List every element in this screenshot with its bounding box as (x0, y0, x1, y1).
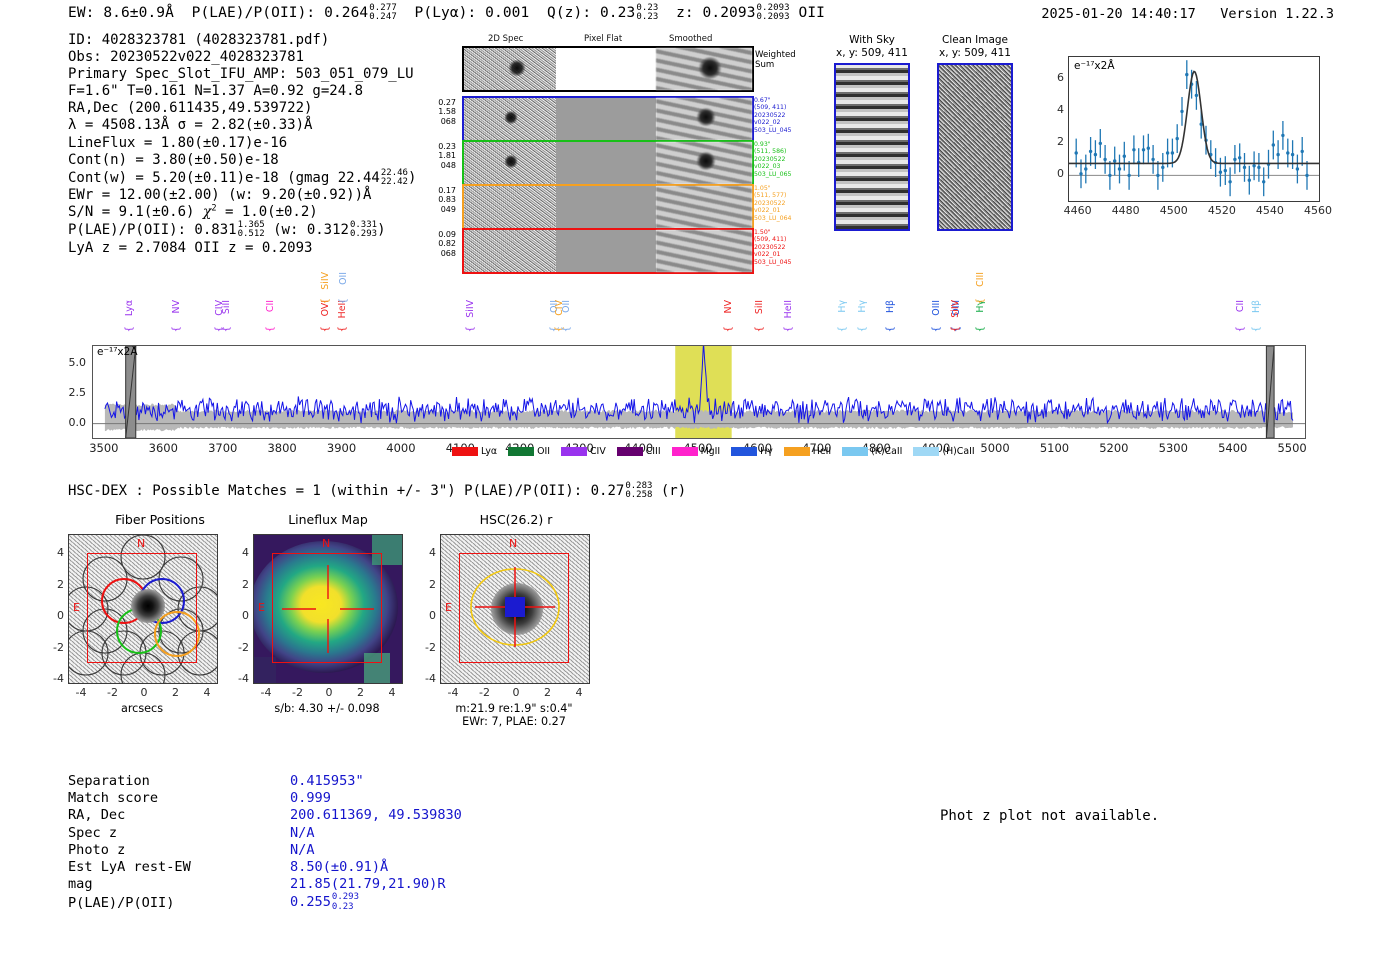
spectrum-line-label: SiIV (950, 300, 961, 318)
param-cont-n: Cont(n) = 3.80(±0.50)e-18 (68, 152, 416, 169)
weighted-sum-smoothed (656, 48, 752, 90)
line-plot-xtick: 4560 (1302, 204, 1334, 217)
panel-xtick: 2 (164, 686, 188, 699)
table-value: 0.999 (290, 790, 331, 806)
panel-ytick: 0 (418, 609, 436, 622)
table-row: Spec zN/A (68, 825, 462, 842)
dex-lo: 0.258 (625, 491, 652, 500)
spectrum-line-label: OII (561, 300, 572, 313)
fiber-positions-title: Fiber Positions (60, 512, 260, 527)
panel-xtick: 2 (349, 686, 373, 699)
legend-swatch (672, 447, 698, 456)
fiber-smoothed (656, 186, 752, 228)
line-plot-xtick: 4500 (1158, 204, 1190, 217)
legend-label: CIV (590, 446, 606, 457)
param-cont-w: Cont(w) = 5.20(±0.11)e-18 (gmag 22.4422.… (68, 169, 416, 187)
panel-ytick: 0 (46, 609, 64, 622)
hsc-r-image[interactable]: N E (440, 534, 590, 684)
fiber-right-label: 1.50"(509, 411)20230522v022_01503_LU_045 (754, 229, 791, 266)
spectrum-xtick: 5500 (1270, 441, 1314, 455)
spectrum-line-label: OII (338, 272, 349, 285)
fiber-left-label: 0.231.81048 (422, 142, 456, 170)
panel-ytick: -4 (418, 672, 436, 685)
spectrum-line-brace: { (754, 326, 765, 332)
dex-suffix: (r) (661, 483, 686, 499)
table-key: Photo z (68, 842, 290, 859)
panel-ytick: 2 (418, 578, 436, 591)
panel-ytick: 4 (231, 546, 249, 559)
weighted-sum-2dspec (464, 48, 556, 90)
fiber-left-label: 0.090.82068 (422, 230, 456, 258)
spectrum-line-brace: { (723, 326, 734, 332)
fiber-smoothed (656, 142, 752, 184)
spectrum-xtick: 3500 (82, 441, 126, 455)
fiber-left-label: 0.271.58068 (422, 98, 456, 126)
legend-item: (H)CaII (913, 446, 974, 457)
param-radec: RA,Dec (200.611435,49.539722) (68, 100, 416, 117)
fiber-2dspec (464, 98, 556, 140)
header-z: z: 0.2093 (676, 5, 755, 21)
table-value: 0.255 (290, 895, 331, 911)
weighted-sum-label: Weighted Sum (755, 50, 796, 70)
timestamp: 2025-01-20 14:40:17 (1041, 6, 1195, 22)
param-id: ID: 4028323781 (4028323781.pdf) (68, 32, 416, 49)
legend-swatch (913, 447, 939, 456)
fiber-red-box (87, 553, 197, 663)
header-summary-line: EW: 8.6±0.9Å P(LAE)/P(OII): 0.2640.2770.… (68, 4, 825, 22)
param-lineflux: LineFlux = 1.80(±0.17)e-16 (68, 135, 416, 152)
spectrum-line-label: SiIV (465, 300, 476, 318)
legend-label: MgII (701, 446, 721, 457)
panel-ytick: -4 (46, 672, 64, 685)
spectrum-line-brace: { (337, 326, 348, 332)
panel-xtick: -2 (101, 686, 125, 699)
spectrum-line-brace: { (837, 326, 848, 332)
spectrum-line-label: SiII (754, 300, 765, 314)
legend-item: Hγ (731, 446, 773, 457)
legend-item: MgII (672, 446, 721, 457)
header-ew: EW: 8.6±0.9Å (68, 5, 174, 21)
param-primary-slot: Primary Spec_Slot_IFU_AMP: 503_051_079_L… (68, 66, 416, 83)
hsc-r-title: HSC(26.2) r (426, 512, 606, 527)
line-plot-xtick: 4520 (1206, 204, 1238, 217)
fiber-2dspec (464, 230, 556, 272)
parameter-block: ID: 4028323781 (4028323781.pdf) Obs: 202… (68, 32, 416, 257)
legend-label: (H)CaII (942, 446, 974, 457)
param-snr-post: = 1.0(±0.2) (217, 204, 318, 220)
line-plot-ytick: 2 (1050, 135, 1064, 148)
param-snr-pre: S/N = 9.1(±0.6) (68, 204, 203, 220)
legend-swatch (561, 447, 587, 456)
col-title-smoothed: Smoothed (669, 34, 712, 44)
compass-east: E (445, 601, 452, 614)
spectrum-line-label: Hγ (857, 300, 868, 313)
param-seeing: F=1.6" T=0.161 N=1.37 A=0.92 g=24.8 (68, 83, 416, 100)
param-cont-w-post: ) (408, 170, 416, 186)
spectrum-xtick: 3600 (141, 441, 185, 455)
table-key: Est LyA rest-EW (68, 859, 290, 876)
header-z-type: OII (799, 5, 826, 21)
panel-xtick: -4 (69, 686, 93, 699)
fiber-pixelflat (556, 230, 656, 272)
param-obs: Obs: 20230522v022_4028323781 (68, 49, 416, 66)
fiber-pixelflat (556, 186, 656, 228)
spectrum-line-label: Hγ (837, 300, 848, 313)
with-sky-image (834, 63, 910, 231)
spectrum-ytick: 0.0 (56, 416, 86, 429)
compass-east: E (258, 601, 265, 614)
spectrum-xtick: 5400 (1211, 441, 1255, 455)
spectrum-xtick: 3700 (201, 441, 245, 455)
table-row: Photo zN/A (68, 842, 462, 859)
spectrum-line-brace: { (931, 326, 942, 332)
spectrum-xtick: 3900 (320, 441, 364, 455)
weighted-sum-row (462, 46, 754, 92)
emission-line-plot: e⁻¹⁷x2Å 446044804500452045404560 0246 (1040, 52, 1326, 222)
header-plae-lo: 0.247 (369, 13, 397, 22)
legend-swatch (842, 447, 868, 456)
fiber-positions-xlabel: arcsecs (68, 702, 216, 715)
dex-prefix: HSC-DEX : Possible Matches = 1 (within +… (68, 483, 582, 499)
panel-xtick: -4 (441, 686, 465, 699)
spectrum-line-brace: { (124, 326, 135, 332)
panel-ytick: -2 (46, 641, 64, 654)
lineflux-map-title: Lineflux Map (233, 512, 423, 527)
lineflux-map-image[interactable]: N E (253, 534, 403, 684)
fiber-left-label: 0.170.83049 (422, 186, 456, 214)
hsc-red-box (459, 553, 569, 663)
spectrum-line-brace: { (171, 326, 182, 332)
line-plot-xtick: 4480 (1110, 204, 1142, 217)
col-title-pixelflat: Pixel Flat (584, 34, 622, 44)
spectrum-line-brace: { (265, 326, 276, 332)
match-detail-table: Separation0.415953"Match score0.999RA, D… (68, 773, 462, 912)
line-plot-xtick: 4540 (1254, 204, 1286, 217)
spectrum-xtick: 5300 (1151, 441, 1195, 455)
header-qz-lo: 0.23 (636, 13, 658, 22)
line-plot-xtick: 4460 (1062, 204, 1094, 217)
param-snr: S/N = 9.1(±0.6) χ2 = 1.0(±0.2) (68, 204, 416, 221)
clean-title-2: x, y: 509, 411 (928, 47, 1022, 60)
panel-ytick: -2 (231, 641, 249, 654)
legend-item: (K)CaII (842, 446, 902, 457)
with-sky-title-2: x, y: 509, 411 (828, 47, 916, 60)
panel-ytick: 2 (231, 578, 249, 591)
table-row: Match score0.999 (68, 790, 462, 807)
spectrum-line-brace: { (975, 326, 986, 332)
legend-item: Lyα (452, 446, 497, 457)
spectrum-line-label: HeII (783, 300, 794, 318)
table-value: 21.85(21.79,21.90)R (290, 876, 446, 892)
fiber-smoothed (656, 230, 752, 272)
fiber-pixelflat (556, 142, 656, 184)
panel-xtick: 4 (567, 686, 591, 699)
weighted-sum-pixelflat (556, 48, 656, 90)
param-plae-mid: (w: 0.312 (273, 222, 349, 238)
fiber-row (462, 140, 754, 186)
panel-xtick: 0 (132, 686, 156, 699)
table-row: Est LyA rest-EW8.50(±0.91)Å (68, 859, 462, 876)
spectrum-line-label: Lyα (124, 300, 135, 316)
line-plot-svg (1069, 57, 1319, 201)
table-row: RA, Dec200.611369, 49.539830 (68, 807, 462, 824)
legend-label: OII (537, 446, 550, 457)
param-ewr: EWr = 12.00(±2.00) (w: 9.20(±0.92))Å (68, 187, 416, 204)
header-z-lo: 0.2093 (757, 13, 790, 22)
spectrum-line-brace: { (338, 298, 349, 304)
table-key: Match score (68, 790, 290, 807)
spectrum-line-label: CIII (975, 272, 986, 287)
spectrum-line-label: Hβ (1251, 300, 1262, 313)
clean-title-1: Clean Image (928, 34, 1022, 47)
panel-xtick: 4 (380, 686, 404, 699)
spectrum-line-brace: { (783, 326, 794, 332)
legend-item: OII (508, 446, 550, 457)
fiber-row (462, 184, 754, 230)
spectrum-line-brace: { (465, 326, 476, 332)
hsc-r-caption2: EWr: 7, PLAE: 0.27 (418, 715, 610, 728)
panel-ytick: 0 (231, 609, 249, 622)
spectrum-line-brace: { (950, 326, 961, 332)
spectrum-line-label: NV (171, 300, 182, 313)
spectrum-line-brace: { (975, 298, 986, 304)
header-plae-label: P(LAE)/P(OII): (192, 5, 316, 21)
hsc-r-xlabel: m:21.9 re:1.9" s:0.4" (418, 702, 610, 715)
spectrum-line-label: OIII (931, 300, 942, 316)
legend-label: Hγ (760, 446, 773, 457)
spectrum-ytick: 5.0 (56, 356, 86, 369)
table-value: N/A (290, 842, 315, 858)
header-qz: Q(z): 0.23 (547, 5, 635, 21)
spectrum-line-brace: { (857, 326, 868, 332)
legend-label: HeII (813, 446, 831, 457)
spectrum-line-brace: { (1235, 326, 1246, 332)
full-spectrum-svg (93, 346, 1305, 438)
legend-swatch (452, 447, 478, 456)
table-value-lo: 0.23 (332, 903, 359, 912)
legend-swatch (784, 447, 810, 456)
fiber-right-label: 0.67"(509, 411)20230522v022_02503_LU_045 (754, 97, 791, 134)
table-value: 0.415953" (290, 773, 364, 789)
fiber-smoothed (656, 98, 752, 140)
line-plot-ytick: 6 (1050, 71, 1064, 84)
with-sky-title-1: With Sky (828, 34, 916, 47)
legend-item: HeII (784, 446, 831, 457)
line-plot-axes: e⁻¹⁷x2Å (1068, 56, 1320, 202)
panel-ytick: -4 (231, 672, 249, 685)
legend-swatch (731, 447, 757, 456)
panel-xtick: 0 (317, 686, 341, 699)
panel-xtick: -4 (254, 686, 278, 699)
spectrum-line-label: CII (1235, 300, 1246, 312)
fiber-positions-image[interactable]: N E (68, 534, 218, 684)
spectrum-line-brace: { (320, 298, 331, 304)
clean-image-cutout: Clean Image x, y: 509, 411 (928, 34, 1022, 231)
clean-image (937, 63, 1013, 231)
panel-xtick: 2 (536, 686, 560, 699)
compass-north: N (137, 537, 145, 550)
param-plae-w-lo: 0.293 (350, 230, 377, 239)
param-plae: P(LAE)/P(OII): 0.8311.3650.512 (w: 0.312… (68, 221, 416, 239)
spectrum-line-label: Hβ (885, 300, 896, 313)
param-redshifts: LyA z = 2.7084 OII z = 0.2093 (68, 240, 416, 257)
spectrum-unit-label: e⁻¹⁷x2Å (97, 346, 138, 358)
legend-swatch (617, 447, 643, 456)
col-title-2dspec: 2D Spec (488, 34, 523, 44)
dex-value: 0.27 (591, 483, 625, 499)
spectrum-line-brace: { (320, 326, 331, 332)
line-plot-unit-label: e⁻¹⁷x2Å (1074, 60, 1115, 72)
header-plya: P(Lyα): 0.001 (415, 5, 530, 21)
param-cont-w-lo: 22.42 (381, 178, 408, 187)
fiber-2dspec (464, 142, 556, 184)
panel-ytick: 4 (46, 546, 64, 559)
compass-north: N (509, 537, 517, 550)
version-label: Version 1.22.3 (1220, 6, 1334, 22)
table-key: Separation (68, 773, 290, 790)
photz-unavailable-message: Phot z plot not available. (940, 808, 1159, 824)
fiber-row (462, 96, 754, 142)
spectrum-legend: LyαOIICIVCIIIMgIIHγHeII(K)CaII(H)CaII (452, 446, 975, 457)
param-plae-lo: 0.512 (238, 230, 265, 239)
compass-east: E (73, 601, 80, 614)
fiber-right-label: 0.93"(511, 586)20230522v022_03503_LU_065 (754, 141, 791, 178)
lineflux-red-box (272, 553, 382, 663)
fiber-2dspec (464, 186, 556, 228)
spectrum-line-label: CII (265, 300, 276, 312)
table-key: P(LAE)/P(OII) (68, 895, 290, 912)
legend-item: CIV (561, 446, 606, 457)
panel-xtick: -2 (473, 686, 497, 699)
table-value: 8.50(±0.91)Å (290, 859, 388, 875)
spectrum-xtick: 5100 (1032, 441, 1076, 455)
legend-label: CIII (646, 446, 661, 457)
legend-item: CIII (617, 446, 661, 457)
spectrum-line-brace: { (221, 326, 232, 332)
panel-xtick: 0 (504, 686, 528, 699)
table-value-range: 0.2930.23 (332, 893, 359, 911)
compass-north: N (322, 537, 330, 550)
panel-ytick: 4 (418, 546, 436, 559)
table-key: RA, Dec (68, 807, 290, 824)
hsc-dex-match-line: HSC-DEX : Possible Matches = 1 (within +… (68, 482, 686, 500)
spectrum-ytick: 2.5 (56, 386, 86, 399)
table-row: P(LAE)/P(OII)0.2550.2930.23 (68, 893, 462, 911)
full-spectrum-plot: e⁻¹⁷x2Å (92, 345, 1306, 439)
panel-ytick: 2 (46, 578, 64, 591)
spectrum-line-brace: { (1251, 326, 1262, 332)
param-plae-post: ) (377, 222, 385, 238)
spectrum-line-label: SiII (221, 300, 232, 314)
spectrum-xtick: 4000 (379, 441, 423, 455)
fiber-row (462, 228, 754, 274)
panel-xtick: 4 (195, 686, 219, 699)
header-plae-value: 0.264 (324, 5, 368, 21)
legend-label: Lyα (481, 446, 497, 457)
line-plot-ytick: 4 (1050, 103, 1064, 116)
table-key: mag (68, 876, 290, 893)
param-lambda: λ = 4508.13Å σ = 2.82(±0.33)Å (68, 117, 416, 134)
table-key: Spec z (68, 825, 290, 842)
spectrum-xtick: 5000 (973, 441, 1017, 455)
fiber-right-label: 1.05"(511, 577)20230522v022_01503_LU_064 (754, 185, 791, 222)
spectrum-line-brace: { (561, 326, 572, 332)
with-sky-cutout: With Sky x, y: 509, 411 (828, 34, 916, 231)
fiber-pixelflat (556, 98, 656, 140)
table-row: Separation0.415953" (68, 773, 462, 790)
spectrum-line-brace: { (885, 326, 896, 332)
panel-xtick: -2 (286, 686, 310, 699)
legend-label: (K)CaII (871, 446, 902, 457)
table-value: N/A (290, 825, 315, 841)
panel-ytick: -2 (418, 641, 436, 654)
legend-swatch (508, 447, 534, 456)
lineflux-map-xlabel: s/b: 4.30 +/- 0.098 (241, 702, 413, 715)
spectrum-line-label: SiIV (320, 272, 331, 290)
table-value: 200.611369, 49.539830 (290, 807, 462, 823)
timestamp-version: 2025-01-20 14:40:17 Version 1.22.3 (1041, 6, 1334, 22)
line-plot-ytick: 0 (1050, 167, 1064, 180)
spectrum-line-label: NV (723, 300, 734, 313)
spectrum-xtick: 3800 (260, 441, 304, 455)
table-row: mag21.85(21.79,21.90)R (68, 876, 462, 893)
param-plae-pre: P(LAE)/P(OII): 0.831 (68, 222, 237, 238)
spectrum-xtick: 5200 (1092, 441, 1136, 455)
param-cont-w-pre: Cont(w) = 5.20(±0.11)e-18 (gmag 22.44 (68, 170, 380, 186)
